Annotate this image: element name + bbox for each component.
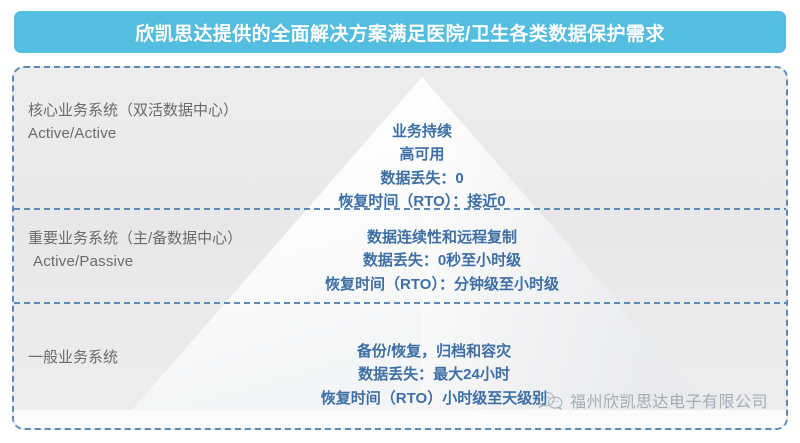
tier-1-line-4: 恢复时间（RTO）：接近0 — [338, 190, 505, 213]
tier-3-content: 备份/恢复，归档和容灾 数据丢失：最大24小时 恢复时间（RTO）小时级至天级别 — [321, 340, 547, 410]
tier-1-line-2: 高可用 — [338, 143, 505, 166]
tier-1-line-3: 数据丢失：0 — [338, 167, 505, 190]
tier-1-label-cn: 核心业务系统（双活数据中心） — [28, 100, 238, 123]
page-title: 欣凯思达提供的全面解决方案满足医院/卫生各类数据保护需求 — [135, 19, 664, 46]
tier-2-line-1: 数据连续性和远程复制 — [325, 226, 559, 249]
tier-2-line-3: 恢复时间（RTO）：分钟级至小时级 — [325, 273, 559, 296]
pyramid-diagram-panel: 核心业务系统（双活数据中心） Active/Active 业务持续 高可用 数据… — [12, 66, 788, 430]
tier-3-line-2: 数据丢失：最大24小时 — [321, 363, 547, 386]
tier-1-line-1: 业务持续 — [338, 120, 505, 143]
tier-2-content: 数据连续性和远程复制 数据丢失：0秒至小时级 恢复时间（RTO）：分钟级至小时级 — [325, 226, 559, 296]
tier-2-label-cn: 重要业务系统（主/备数据中心） — [28, 228, 242, 251]
tier-3-label: 一般业务系统 — [28, 347, 118, 370]
tier-2-label: 重要业务系统（主/备数据中心） Active/Passive — [28, 228, 242, 273]
tier-2-line-2: 数据丢失：0秒至小时级 — [325, 249, 559, 272]
tier-1-label-en: Active/Active — [28, 123, 238, 146]
watermark: 福州欣凯思达电子有限公司 — [537, 388, 768, 412]
tier-3-line-1: 备份/恢复，归档和容灾 — [321, 340, 547, 363]
tier-2-label-en: Active/Passive — [28, 251, 242, 274]
tier-divider-2 — [14, 302, 788, 304]
tier-1-content: 业务持续 高可用 数据丢失：0 恢复时间（RTO）：接近0 — [338, 120, 505, 213]
tier-1-label: 核心业务系统（双活数据中心） Active/Active — [28, 100, 238, 145]
wechat-icon — [537, 391, 563, 410]
tier-3-line-3: 恢复时间（RTO）小时级至天级别 — [321, 387, 547, 410]
tier-3-label-cn: 一般业务系统 — [28, 347, 118, 370]
page-title-banner: 欣凯思达提供的全面解决方案满足医院/卫生各类数据保护需求 — [14, 11, 786, 53]
watermark-text: 福州欣凯思达电子有限公司 — [570, 388, 768, 412]
